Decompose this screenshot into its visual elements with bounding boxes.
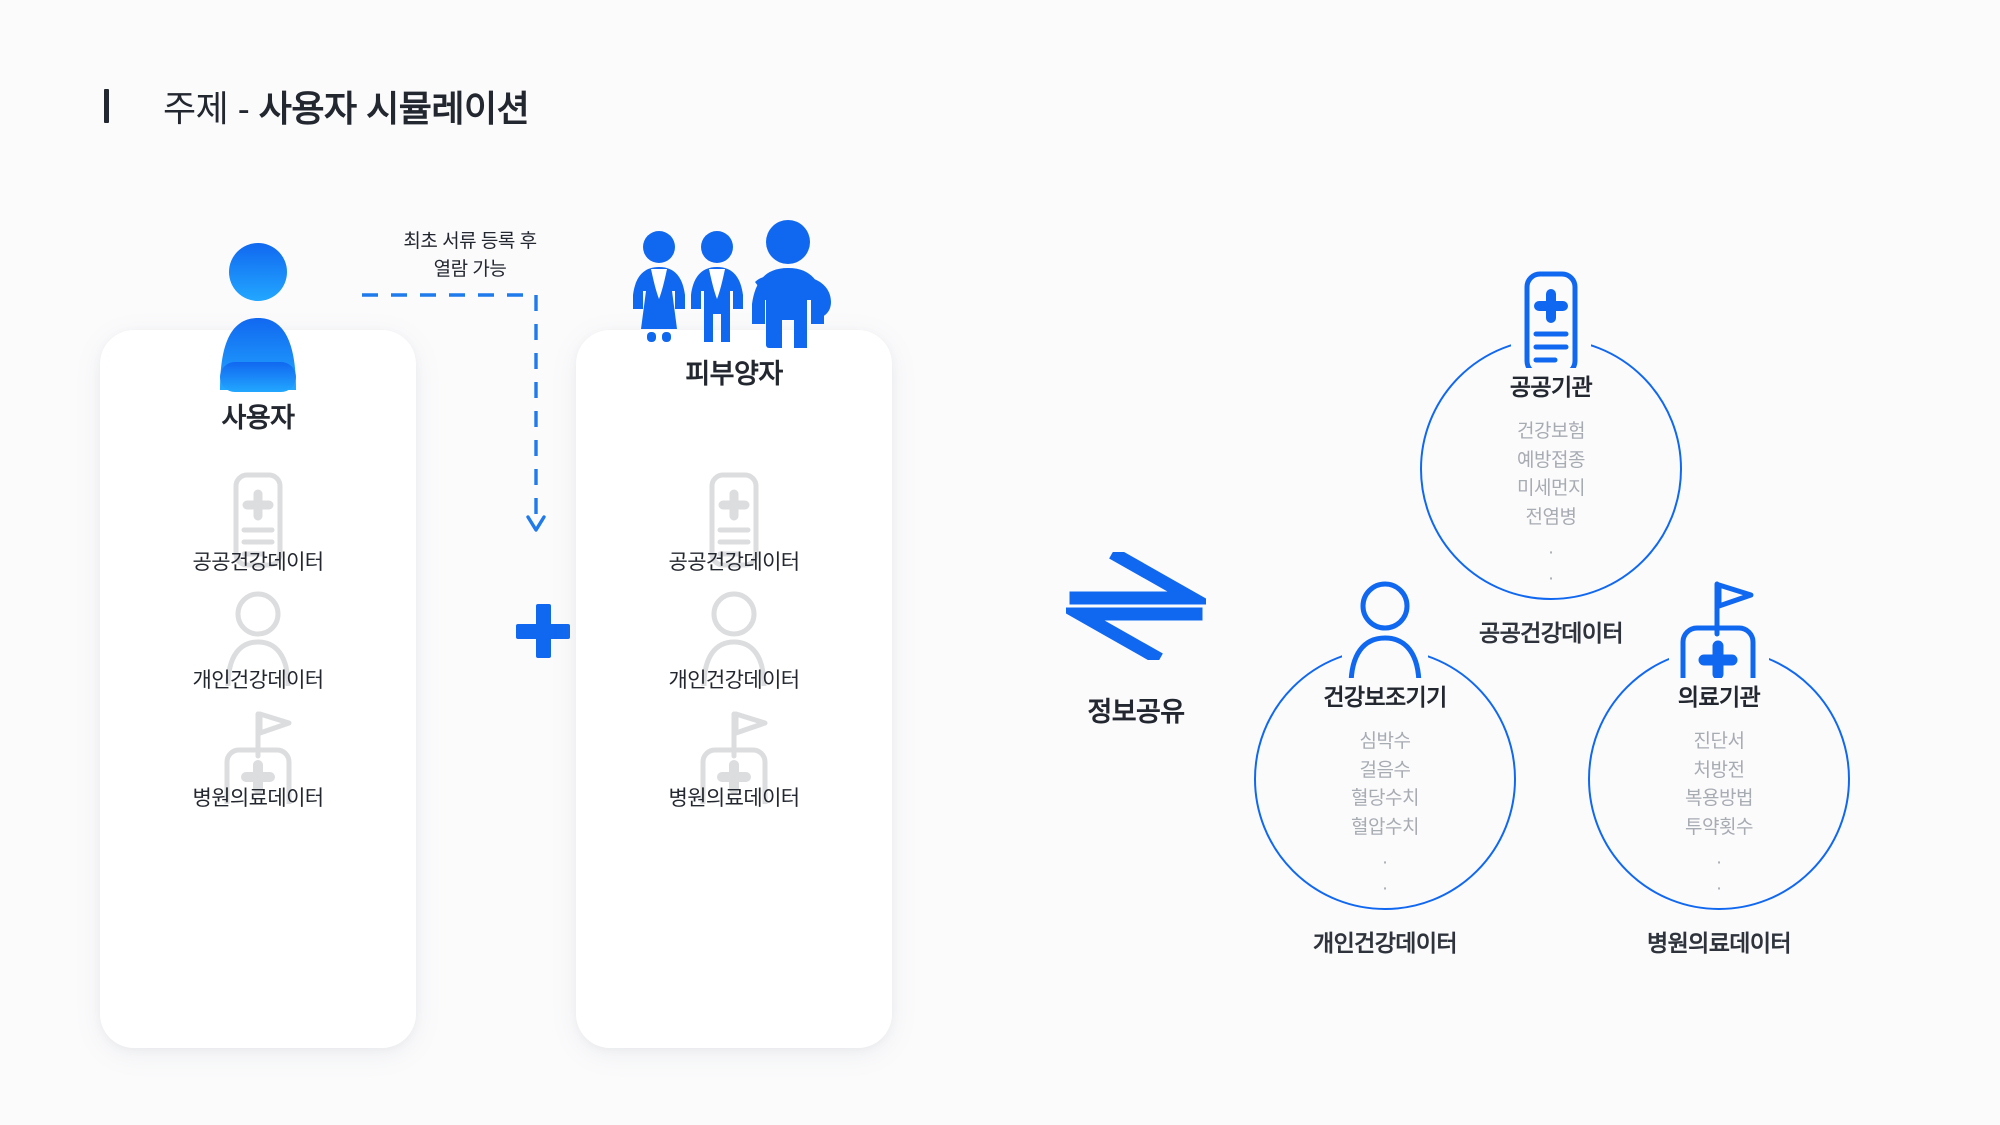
org-ellipsis: · ·: [1716, 850, 1722, 901]
org-caption: 개인건강데이터: [1254, 924, 1516, 958]
org-title: 의료기관: [1672, 678, 1766, 712]
org-item: 예방접종: [1517, 447, 1585, 476]
org-items: 진단서 처방전 복용방법 투약횟수: [1685, 728, 1753, 842]
person-name-user: 사용자: [221, 396, 294, 435]
org-title: 건강보조기기: [1317, 678, 1452, 712]
org-items: 건강보험 예방접종 미세먼지 전염병: [1517, 418, 1585, 532]
data-item-label: 개인건강데이터: [668, 664, 799, 694]
data-list-dependents: 공공건강데이터 개인건강데이터: [576, 472, 892, 826]
data-item[interactable]: 병원의료데이터: [576, 708, 892, 826]
org-item: 전염병: [1517, 504, 1585, 533]
org-ellipsis: · ·: [1382, 850, 1388, 901]
org-item: 혈압수치: [1351, 814, 1419, 843]
data-item-label: 병원의료데이터: [192, 782, 323, 812]
diagram-stage: 최초 서류 등록 후 열람 가능 사용자: [0, 0, 2000, 1125]
org-node-medical[interactable]: 의료기관 진단서 처방전 복용방법 투약횟수 · · 병원의료데이터: [1588, 648, 1850, 958]
exchange-block: 정보공유: [1046, 552, 1226, 729]
person-card-user[interactable]: 사용자 공공건강데이터: [100, 330, 416, 1048]
org-caption: 공공건강데이터: [1420, 614, 1682, 648]
two-way-arrows-icon: [1066, 552, 1206, 660]
data-item[interactable]: 개인건강데이터: [100, 590, 416, 708]
org-ellipsis: · ·: [1548, 540, 1554, 591]
data-item-label: 병원의료데이터: [668, 782, 799, 812]
data-list-user: 공공건강데이터 개인건강데이터: [100, 472, 416, 826]
org-circle: 의료기관 진단서 처방전 복용방법 투약횟수 · ·: [1588, 648, 1850, 910]
person-name-dependents: 피부양자: [685, 352, 782, 391]
org-dot: ·: [1548, 566, 1554, 592]
org-dot: ·: [1382, 850, 1388, 876]
org-dot: ·: [1716, 876, 1722, 902]
org-circle: 건강보조기기 심박수 걸음수 혈당수치 혈압수치 · ·: [1254, 648, 1516, 910]
family-dependents-icon: [625, 220, 843, 348]
user-avatar-block: 사용자: [100, 242, 416, 435]
org-dot: ·: [1716, 850, 1722, 876]
org-item: 혈당수치: [1351, 785, 1419, 814]
person-outline-icon: [1342, 580, 1428, 686]
data-item-label: 공공건강데이터: [192, 546, 323, 576]
data-item-label: 공공건강데이터: [668, 546, 799, 576]
data-item[interactable]: 병원의료데이터: [100, 708, 416, 826]
org-dot: ·: [1382, 876, 1388, 902]
dependents-avatar-block: 피부양자: [576, 220, 892, 391]
org-items: 심박수 걸음수 혈당수치 혈압수치: [1351, 728, 1419, 842]
org-item: 진단서: [1685, 728, 1753, 757]
org-title: 공공기관: [1504, 368, 1598, 402]
person-card-dependents[interactable]: 피부양자 공공건강데이터: [576, 330, 892, 1048]
org-caption: 병원의료데이터: [1588, 924, 1850, 958]
data-item-label: 개인건강데이터: [192, 664, 323, 694]
hospital-flag-icon: [1669, 580, 1769, 692]
org-dot: ·: [1548, 540, 1554, 566]
data-item[interactable]: 공공건강데이터: [576, 472, 892, 590]
org-item: 투약횟수: [1685, 814, 1753, 843]
user-avatar-icon: [212, 242, 304, 392]
org-item: 복용방법: [1685, 785, 1753, 814]
data-item[interactable]: 공공건강데이터: [100, 472, 416, 590]
org-item: 심박수: [1351, 728, 1419, 757]
data-item[interactable]: 개인건강데이터: [576, 590, 892, 708]
org-item: 처방전: [1685, 757, 1753, 786]
org-item: 건강보험: [1517, 418, 1585, 447]
org-node-public[interactable]: 공공기관 건강보험 예방접종 미세먼지 전염병 · · 공공건강데이터: [1420, 338, 1682, 648]
org-node-device[interactable]: 건강보조기기 심박수 걸음수 혈당수치 혈압수치 · · 개인건강데이터: [1254, 648, 1516, 958]
org-item: 미세먼지: [1517, 475, 1585, 504]
org-circle: 공공기관 건강보험 예방접종 미세먼지 전염병 · ·: [1420, 338, 1682, 600]
org-item: 걸음수: [1351, 757, 1419, 786]
exchange-label: 정보공유: [1088, 690, 1185, 729]
health-record-icon: [1511, 270, 1591, 378]
plus-icon: [516, 604, 570, 658]
